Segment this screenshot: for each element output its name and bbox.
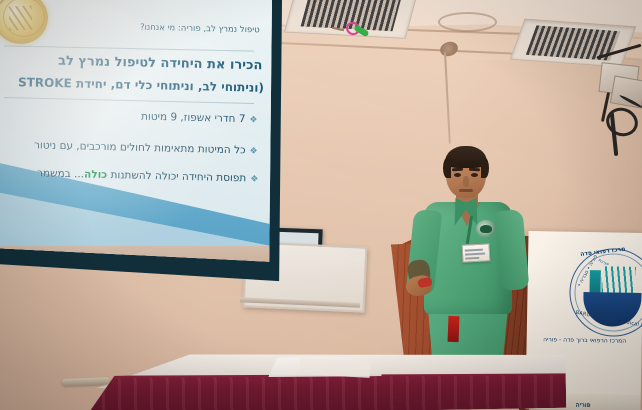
logo-hebrew-side: פוריה • טבריה • <box>576 254 599 288</box>
logo-arc-text-group: מרכז רפואי פדה פוריה • טבריה • Poriya BA… <box>571 246 642 331</box>
logo-english-arc: BARUCH PADEH Medical C <box>575 310 642 329</box>
ac-vent-icon <box>510 19 637 68</box>
banner-hebrew-body: המרכז הרפואי ברוך פדה - פוריה <box>533 335 637 346</box>
badge-line <box>465 257 479 259</box>
badge-line <box>465 249 483 251</box>
projector-glow <box>0 0 272 270</box>
projection-screen: טיפול נמרץ לב, פוריה: מי אנחנו? הכירו את… <box>0 0 272 270</box>
badge-line <box>465 253 485 256</box>
id-badge <box>462 243 491 262</box>
logo-hebrew-top: מרכז רפואי פדה <box>580 246 626 258</box>
presenter-nose <box>463 176 469 187</box>
pocket-red-item <box>448 316 460 342</box>
presenter-right-arm <box>495 209 530 291</box>
presenter-eye <box>471 173 478 177</box>
ceiling-ring-mark <box>438 12 497 32</box>
presenter-eye <box>454 173 461 177</box>
presenter-hair-left <box>443 158 451 178</box>
hospital-crest-icon <box>476 220 496 238</box>
presenter-hair-right <box>481 158 489 178</box>
presentation-photo-scene: טיפול נמרץ לב, פוריה: מי אנחנו? הכירו את… <box>0 0 642 410</box>
presenter-mouth <box>459 189 473 192</box>
logo-micro-text: Poriya <box>598 258 610 266</box>
